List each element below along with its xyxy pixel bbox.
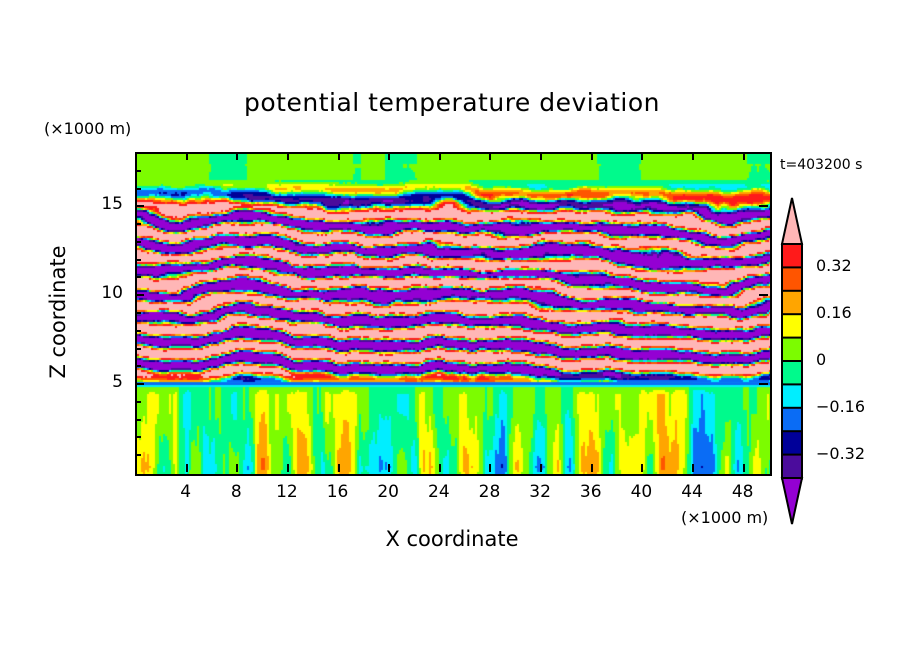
y-tick-minor	[135, 348, 141, 350]
x-tick	[641, 464, 643, 472]
y-tick	[135, 383, 144, 385]
x-tick-top	[186, 152, 188, 160]
x-tick	[591, 464, 593, 472]
y-tick-minor	[135, 419, 141, 421]
colorbar	[780, 196, 814, 526]
y-tick-label: 15	[83, 194, 123, 214]
x-tick-top	[287, 152, 289, 160]
timestamp-label: t=403200 s	[780, 157, 862, 173]
x-axis-unit-label: (×1000 m)	[681, 508, 768, 527]
x-tick-top	[641, 152, 643, 160]
x-tick-top	[591, 152, 593, 160]
y-tick-minor	[135, 170, 141, 172]
x-tick-label: 16	[318, 482, 358, 502]
x-tick-label: 4	[166, 482, 206, 502]
y-tick	[135, 205, 144, 207]
x-tick-top	[388, 152, 390, 160]
figure-canvas: potential temperature deviation (×1000 m…	[0, 0, 904, 654]
x-tick-label: 32	[520, 482, 560, 502]
colorbar-under-arrow	[782, 478, 802, 524]
x-tick	[489, 464, 491, 472]
y-tick-minor	[135, 312, 141, 314]
colorbar-band-5	[782, 361, 802, 385]
x-tick	[439, 464, 441, 472]
colorbar-band-1	[782, 267, 802, 291]
colorbar-tick-label: 0.16	[816, 303, 852, 322]
x-tick	[692, 464, 694, 472]
y-tick-minor	[135, 188, 141, 190]
x-tick-label: 28	[469, 482, 509, 502]
y-tick-minor	[135, 436, 141, 438]
contour-plot-area	[135, 152, 772, 476]
colorbar-band-7	[782, 408, 802, 432]
colorbar-tick-label: 0.32	[816, 256, 852, 275]
x-tick	[388, 464, 390, 472]
colorbar-band-4	[782, 338, 802, 362]
x-tick-top	[540, 152, 542, 160]
x-tick-top	[489, 152, 491, 160]
y-tick-minor	[135, 454, 141, 456]
x-tick	[186, 464, 188, 472]
contour-field	[137, 154, 770, 474]
x-tick	[743, 464, 745, 472]
y-tick-minor	[135, 330, 141, 332]
y-tick-right	[759, 294, 768, 296]
colorbar-swatches	[780, 196, 814, 526]
y-tick-minor	[135, 223, 141, 225]
y-tick-minor	[135, 365, 141, 367]
x-tick-top	[692, 152, 694, 160]
z-axis-unit-label: (×1000 m)	[44, 119, 131, 138]
x-tick	[236, 464, 238, 472]
x-tick-top	[439, 152, 441, 160]
colorbar-band-6	[782, 384, 802, 408]
colorbar-band-8	[782, 431, 802, 455]
y-tick-minor	[135, 241, 141, 243]
x-tick-label: 20	[368, 482, 408, 502]
y-tick-minor	[135, 401, 141, 403]
x-tick-label: 8	[216, 482, 256, 502]
x-tick-top	[743, 152, 745, 160]
y-tick	[135, 294, 144, 296]
x-tick	[287, 464, 289, 472]
y-axis-title: Z coordinate	[46, 222, 70, 402]
colorbar-band-0	[782, 244, 802, 268]
x-tick-top	[236, 152, 238, 160]
x-tick-label: 44	[672, 482, 712, 502]
y-tick-minor	[135, 276, 141, 278]
y-tick-label: 5	[83, 372, 123, 392]
colorbar-tick-label: −0.16	[816, 397, 865, 416]
page-title: potential temperature deviation	[0, 88, 904, 117]
colorbar-band-2	[782, 291, 802, 315]
colorbar-band-9	[782, 455, 802, 479]
x-tick	[338, 464, 340, 472]
x-tick-label: 40	[621, 482, 661, 502]
x-tick-label: 12	[267, 482, 307, 502]
x-tick-label: 48	[723, 482, 763, 502]
y-tick-label: 10	[83, 283, 123, 303]
y-tick-right	[759, 383, 768, 385]
x-tick-top	[338, 152, 340, 160]
x-tick-label: 24	[419, 482, 459, 502]
colorbar-over-arrow	[782, 198, 802, 244]
x-tick-label: 36	[571, 482, 611, 502]
x-axis-title: X coordinate	[0, 527, 904, 551]
x-tick	[540, 464, 542, 472]
y-tick-minor	[135, 259, 141, 261]
colorbar-tick-label: 0	[816, 350, 826, 369]
colorbar-band-3	[782, 314, 802, 338]
colorbar-tick-label: −0.32	[816, 444, 865, 463]
y-tick-right	[759, 205, 768, 207]
